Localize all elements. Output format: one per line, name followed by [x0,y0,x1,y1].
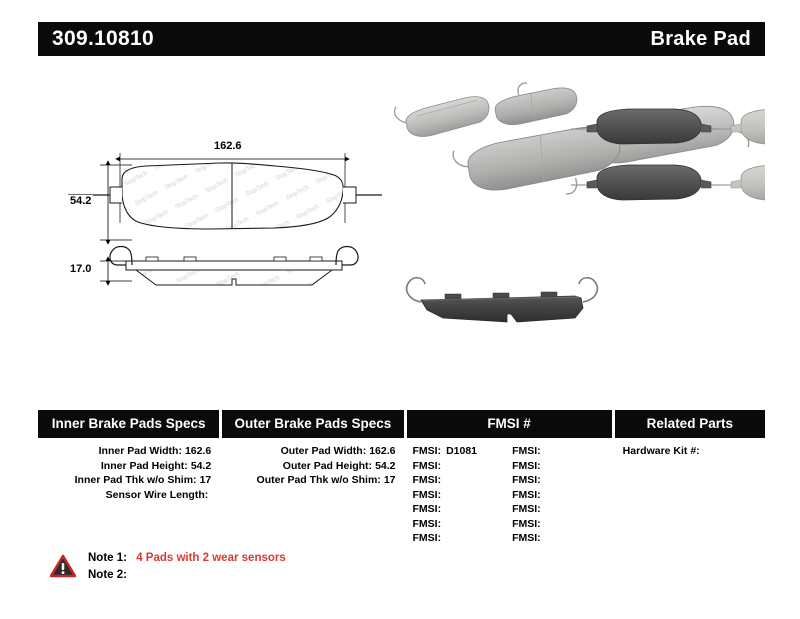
table-header-row: Inner Brake Pads Specs Outer Brake Pads … [38,410,765,438]
fmsi-left-label: FMSI: [413,460,442,472]
outer-spec-label: Outer Pad Thk w/o Shim: [257,474,381,486]
warning-triangle-icon [50,554,76,578]
inner-spec-row: Inner Pad Width:162.6 [38,444,211,459]
inner-spec-label: Sensor Wire Length: [106,489,209,501]
related-parts-cell: Hardware Kit #: [615,444,765,546]
fmsi-cell: FMSI:D1081FMSI:FMSI:FMSI:FMSI:FMSI:FMSI:… [407,444,612,546]
outer-spec-value: 162.6 [369,445,395,457]
fmsi-right-row: FMSI: [512,459,612,474]
fmsi-right-label: FMSI: [512,474,541,486]
inner-spec-row: Inner Pad Thk w/o Shim:17 [38,473,211,488]
column-header-fmsi: FMSI # [407,410,612,438]
brake-pad-dimension-drawing: StopTech [60,135,390,305]
related-part-row: Hardware Kit #: [623,444,765,459]
fmsi-left-row: FMSI: [413,502,513,517]
inner-spec-row: Inner Pad Height:54.2 [38,459,211,474]
outer-spec-label: Outer Pad Width: [281,445,367,457]
column-header-inner-specs: Inner Brake Pads Specs [38,410,219,438]
fmsi-right-label: FMSI: [512,445,541,457]
fmsi-grid: FMSI:D1081FMSI:FMSI:FMSI:FMSI:FMSI:FMSI:… [407,444,612,546]
fmsi-right-label: FMSI: [512,503,541,515]
outer-spec-list: Outer Pad Width:162.6Outer Pad Height:54… [222,444,403,488]
inner-spec-value: 17 [200,474,212,486]
fmsi-right-label: FMSI: [512,518,541,530]
fmsi-left-row: FMSI:D1081 [413,444,513,459]
column-header-related-parts: Related Parts [615,410,765,438]
outer-specs-cell: Outer Pad Width:162.6Outer Pad Height:54… [222,444,403,546]
brake-pad-photographs [385,80,765,360]
inner-spec-label: Inner Pad Height: [101,460,188,472]
width-dimension-label: 162.6 [212,140,244,152]
outer-spec-row: Outer Pad Width:162.6 [222,444,395,459]
thickness-dimension-label: 17.0 [68,263,93,275]
fmsi-right-row: FMSI: [512,502,612,517]
fmsi-left-row: FMSI: [413,459,513,474]
fmsi-right-label: FMSI: [512,489,541,501]
specifications-table: Inner Brake Pads Specs Outer Brake Pads … [38,410,765,546]
fmsi-right-row: FMSI: [512,531,612,546]
fmsi-left-label: FMSI: [413,518,442,530]
fmsi-left-row: FMSI: [413,531,513,546]
fmsi-left-row: FMSI: [413,488,513,503]
note-2-line: Note 2: [88,567,286,584]
title-bar: 309.10810 Brake Pad [38,22,765,56]
inner-specs-cell: Inner Pad Width:162.6Inner Pad Height:54… [38,444,219,546]
fmsi-right-row: FMSI: [512,444,612,459]
inner-spec-value: 162.6 [185,445,211,457]
outer-spec-value: 54.2 [375,460,395,472]
fmsi-right-column: FMSI:FMSI:FMSI:FMSI:FMSI:FMSI:FMSI: [512,444,612,546]
column-header-outer-specs: Outer Brake Pads Specs [222,410,403,438]
height-dimension-label: 54.2 [68,195,93,207]
note-1-line: Note 1: 4 Pads with 2 wear sensors [88,550,286,567]
fmsi-left-row: FMSI: [413,473,513,488]
technical-drawing: StopTech [60,135,390,305]
fmsi-left-column: FMSI:D1081FMSI:FMSI:FMSI:FMSI:FMSI:FMSI: [413,444,513,546]
note-1-text: 4 Pads with 2 wear sensors [136,552,286,564]
note-1-label: Note 1: [88,552,127,564]
inner-spec-row: Sensor Wire Length: [38,488,211,503]
notes-section: Note 1: 4 Pads with 2 wear sensors Note … [50,550,286,584]
outer-spec-row: Outer Pad Thk w/o Shim:17 [222,473,395,488]
fmsi-right-row: FMSI: [512,473,612,488]
fmsi-left-label: FMSI: [413,532,442,544]
fmsi-left-row: FMSI: [413,517,513,532]
fmsi-right-label: FMSI: [512,532,541,544]
part-number: 309.10810 [52,27,154,51]
table-body-row: Inner Pad Width:162.6Inner Pad Height:54… [38,438,765,546]
fmsi-left-label: FMSI: [413,489,442,501]
inner-spec-value: 54.2 [191,460,211,472]
notes-text-block: Note 1: 4 Pads with 2 wear sensors Note … [88,550,286,584]
inner-spec-label: Inner Pad Width: [99,445,182,457]
product-type-label: Brake Pad [650,28,751,51]
fmsi-left-label: FMSI: [413,445,442,457]
fmsi-left-label: FMSI: [413,503,442,515]
outer-spec-value: 17 [384,474,396,486]
fmsi-left-value: D1081 [446,445,477,457]
fmsi-left-label: FMSI: [413,474,442,486]
note-2-label: Note 2: [88,569,127,581]
photo-edge-view-pad [407,278,598,322]
outer-spec-label: Outer Pad Height: [283,460,372,472]
related-parts-list: Hardware Kit #: [615,444,765,459]
fmsi-right-row: FMSI: [512,517,612,532]
outer-spec-row: Outer Pad Height:54.2 [222,459,395,474]
inner-spec-label: Inner Pad Thk w/o Shim: [75,474,197,486]
fmsi-right-row: FMSI: [512,488,612,503]
related-part-label: Hardware Kit #: [623,445,700,457]
fmsi-right-label: FMSI: [512,460,541,472]
inner-spec-list: Inner Pad Width:162.6Inner Pad Height:54… [38,444,219,502]
product-photos [385,80,765,360]
